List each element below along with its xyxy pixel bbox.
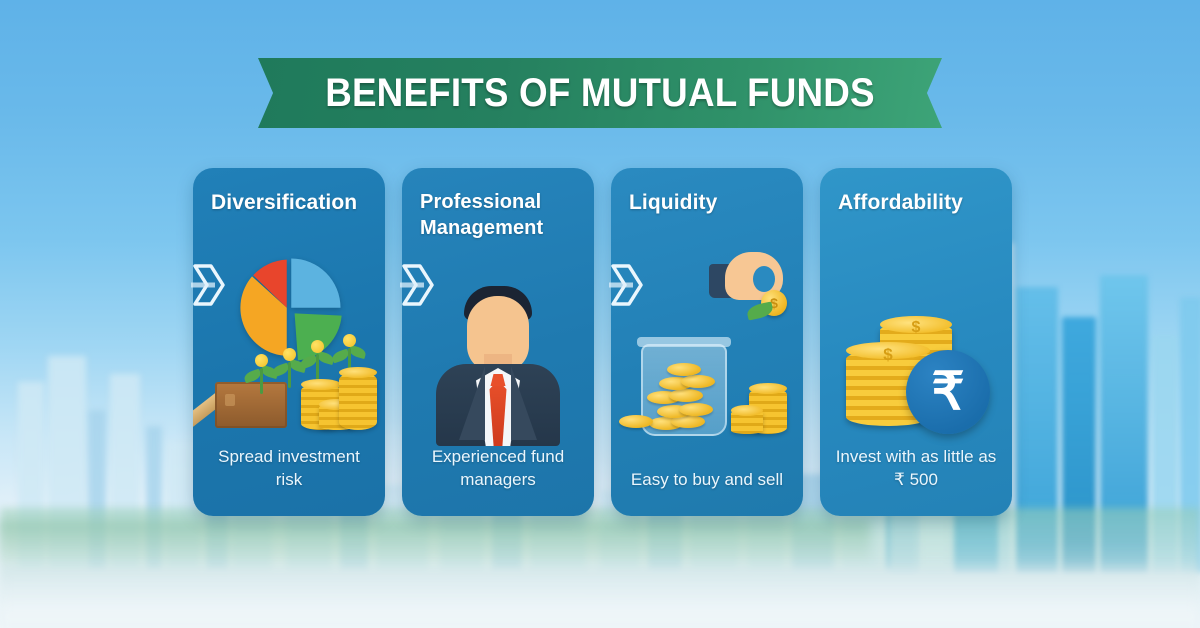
benefit-cards-row: Diversification (193, 168, 1011, 516)
rupee-coin-icon: ₹ (906, 350, 990, 434)
card-caption: Experienced fund managers (412, 446, 584, 492)
plant-icon (301, 340, 335, 380)
loose-coin-icon (619, 415, 653, 428)
card-title: Affordability (838, 190, 1000, 217)
benefit-card-professional-management[interactable]: Professional Management Experienced fund… (402, 168, 594, 516)
card-title: Professional Management (420, 190, 582, 241)
benefit-card-diversification[interactable]: Diversification (193, 168, 385, 516)
infographic-canvas: BENEFITS OF MUTUAL FUNDS Diversification (0, 0, 1200, 628)
benefit-card-liquidity[interactable]: Liquidity $ (611, 168, 803, 516)
affordability-illustration: ₹ (820, 246, 1012, 446)
card-title: Diversification (211, 190, 373, 217)
card-caption: Spread investment risk (203, 446, 375, 492)
benefit-card-affordability[interactable]: Affordability ₹ Invest with as little as… (820, 168, 1012, 516)
ground-foreground (0, 566, 1200, 628)
page-title: BENEFITS OF MUTUAL FUNDS (285, 58, 914, 128)
businessman-icon (433, 278, 563, 446)
chevron-right-arrow-icon (400, 262, 434, 308)
leaf-icon (746, 301, 774, 320)
side-coin-stacks (725, 372, 795, 434)
card-caption: Easy to buy and sell (621, 469, 793, 492)
title-banner: BENEFITS OF MUTUAL FUNDS (258, 58, 942, 128)
card-title: Liquidity (629, 190, 791, 217)
chevron-right-arrow-icon (191, 262, 225, 308)
jar-coins-icon (645, 360, 723, 432)
coin-stack-icon (339, 372, 377, 430)
chevron-right-arrow-icon (609, 262, 643, 308)
card-caption: Invest with as little as ₹ 500 (830, 446, 1002, 492)
